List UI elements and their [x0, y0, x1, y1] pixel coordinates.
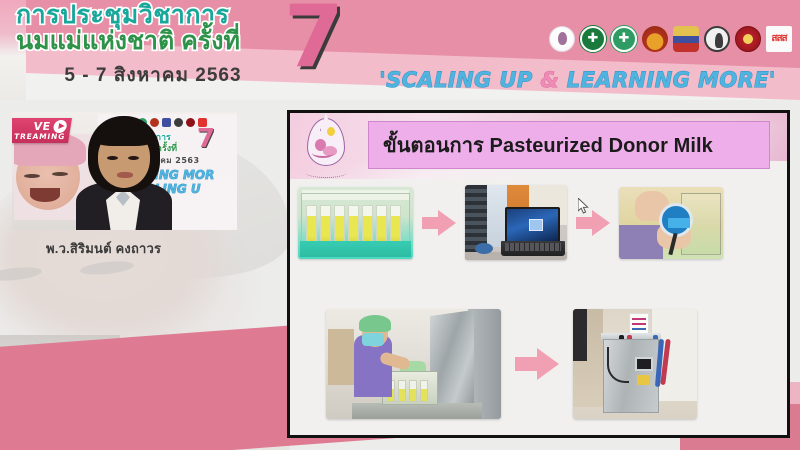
child-eye-right: [52, 172, 68, 176]
pasteurizer-display-panel: [635, 357, 653, 371]
arrow-head: [592, 210, 610, 236]
arrow-head: [537, 348, 559, 380]
nurse-face-mask: [362, 333, 384, 346]
child-eye-left: [24, 174, 40, 178]
red-institute-seal-logo: [735, 26, 761, 52]
computer-mouse: [475, 243, 493, 254]
screen-stage: การประชุมวิชาการ นมแม่แห่งชาติ ครั้งที่ …: [0, 0, 800, 450]
dark-doorway: [573, 309, 587, 361]
steel-counter: [352, 403, 482, 419]
milk-bottle: [334, 205, 345, 243]
speaker-eye-right: [128, 156, 139, 160]
conference-title-line2: นมแม่แห่งชาติ ครั้งที่: [16, 28, 306, 56]
milk-bottle: [390, 205, 401, 243]
thai-national-emblem-logo: [673, 26, 699, 52]
arrow-right-1: [422, 210, 456, 236]
process-step-row-bottom: [326, 309, 697, 419]
nurse-surgical-cap: [359, 315, 391, 332]
thai-human-milk-bank-droplet-logo: [297, 117, 355, 179]
pasteurizer-label-sticker: [637, 375, 649, 385]
milk-bottle: [376, 205, 387, 243]
royal-emblem-logo: [642, 26, 668, 52]
conference-date: 5 - 7 สิงหาคม 2563: [16, 60, 306, 90]
poster-logo-7: [186, 118, 195, 127]
department-of-health-logo: [580, 26, 606, 52]
poster-edition-number: 7: [197, 126, 215, 152]
photo-laptop-workstation: [465, 185, 567, 260]
child-mouth: [30, 188, 60, 202]
slide-title-text: ขั้นตอนการ Pasteurized Donor Milk: [383, 129, 713, 161]
thaihealth-sss-logo: สสส: [766, 26, 792, 52]
live-badge-sublabel: TREAMING: [12, 132, 66, 141]
milk-bottle: [348, 205, 359, 243]
digital-thermometer: [659, 203, 693, 237]
droplet-circular-text: [299, 123, 353, 177]
laptop-screen: [505, 207, 560, 243]
video-speaker-figure: [72, 116, 172, 230]
watermark-eye-right: [80, 259, 135, 277]
photo-pasteurizer-machine: [573, 309, 697, 419]
speaker-eye-left: [107, 156, 118, 160]
header-banner: การประชุมวิชาการ นมแม่แห่งชาติ ครั้งที่ …: [0, 0, 800, 100]
process-step-row-top: [298, 185, 723, 260]
edition-number-7: 7: [284, 0, 344, 80]
milk-bottle: [362, 205, 373, 243]
sponsor-logo-row: สสส: [549, 26, 792, 52]
milk-bottle: [409, 380, 417, 402]
slogan-ampersand: &: [540, 68, 559, 92]
thai-royal-foundation-logo: [549, 26, 575, 52]
live-video-overlay[interactable]: ารประชุมวิชาการ มแม่แห่งชาติ ครั้งที่ 7 …: [12, 112, 237, 230]
photo-nurse-loading-bottles: [326, 309, 501, 419]
milk-bottle: [306, 205, 317, 243]
photo-hand-thermometer-probe: [619, 187, 723, 259]
speaker-name-caption: พ.ว.สิริมนต์ คงถาวร: [46, 238, 256, 259]
conference-title-line1: การประชุมวิชาการ: [16, 2, 306, 28]
conference-slogan: 'SCALING UP & LEARNING MORE': [365, 68, 790, 92]
slogan-part2: LEARNING MORE': [559, 68, 776, 92]
university-seal-logo: [704, 26, 730, 52]
rack-base: [300, 241, 411, 257]
milk-bottle: [398, 380, 406, 402]
arrow-head: [438, 210, 456, 236]
photo-milk-bottles-rack: [298, 187, 413, 259]
live-streaming-badge: VE TREAMING: [12, 118, 72, 143]
arrow-right-3: [515, 348, 559, 380]
speaker-bangs: [94, 124, 154, 146]
conference-title-block: การประชุมวิชาการ นมแม่แห่งชาติ ครั้งที่ …: [16, 2, 306, 90]
laptop-keyboard: [501, 241, 565, 256]
slogan-part1: 'SCALING UP: [379, 68, 540, 92]
presentation-slide: ขั้นตอนการ Pasteurized Donor Milk: [287, 110, 790, 438]
lab-wall-mid: [487, 185, 507, 247]
mouse-pointer: [578, 198, 590, 216]
milk-bottle: [320, 205, 331, 243]
wooden-cabinet: [328, 329, 354, 385]
purple-scrubs: [619, 225, 663, 259]
milk-bottle: [420, 380, 428, 402]
speaker-mouth: [117, 172, 133, 178]
watermark-eye-left: [0, 265, 42, 283]
ministry-of-public-health-logo: [611, 26, 637, 52]
poster-logo-6: [174, 118, 183, 127]
arrow-shaft: [515, 357, 539, 371]
slide-title-banner: ขั้นตอนการ Pasteurized Donor Milk: [368, 121, 770, 169]
screen-window-icon: [529, 219, 543, 231]
